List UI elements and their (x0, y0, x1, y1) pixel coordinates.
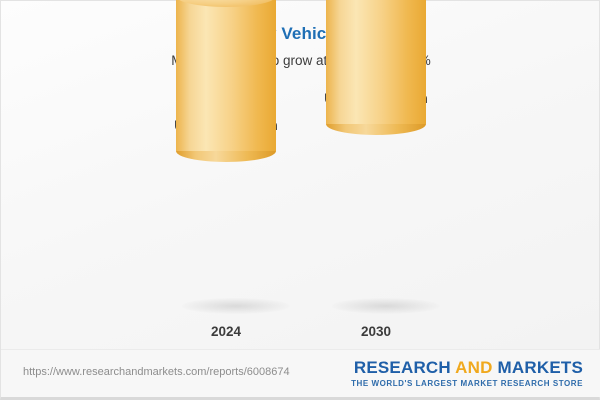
brand-tagline: THE WORLD'S LARGEST MARKET RESEARCH STOR… (351, 379, 583, 388)
brand-name-part1: RESEARCH (354, 358, 455, 377)
cylinder-2024[interactable] (176, 151, 276, 306)
footer: https://www.researchandmarkets.com/repor… (1, 349, 600, 397)
bar-shadow-2024 (182, 298, 290, 314)
brand-name-part2: MARKETS (493, 358, 583, 377)
cylinder-body-base-2030 (326, 0, 426, 124)
cylinder-body-2024 (176, 0, 276, 151)
bar-category-label-2024: 2024 (176, 324, 276, 339)
brand-name: RESEARCH AND MARKETS (351, 358, 583, 378)
cylinder-2030[interactable] (326, 124, 426, 306)
bar-category-label-2030: 2030 (326, 324, 426, 339)
chart-card: Specialty Vehicle Market Market forecast… (0, 0, 600, 400)
brand-logo[interactable]: RESEARCH AND MARKETS THE WORLD'S LARGEST… (351, 358, 583, 388)
source-url-link[interactable]: https://www.researchandmarkets.com/repor… (23, 366, 290, 378)
plot-area: USD 82.3 Billion 2024 USD 99.8 Billion (1, 1, 600, 346)
bar-shadow-2030 (332, 298, 440, 314)
brand-name-and: AND (455, 358, 492, 377)
